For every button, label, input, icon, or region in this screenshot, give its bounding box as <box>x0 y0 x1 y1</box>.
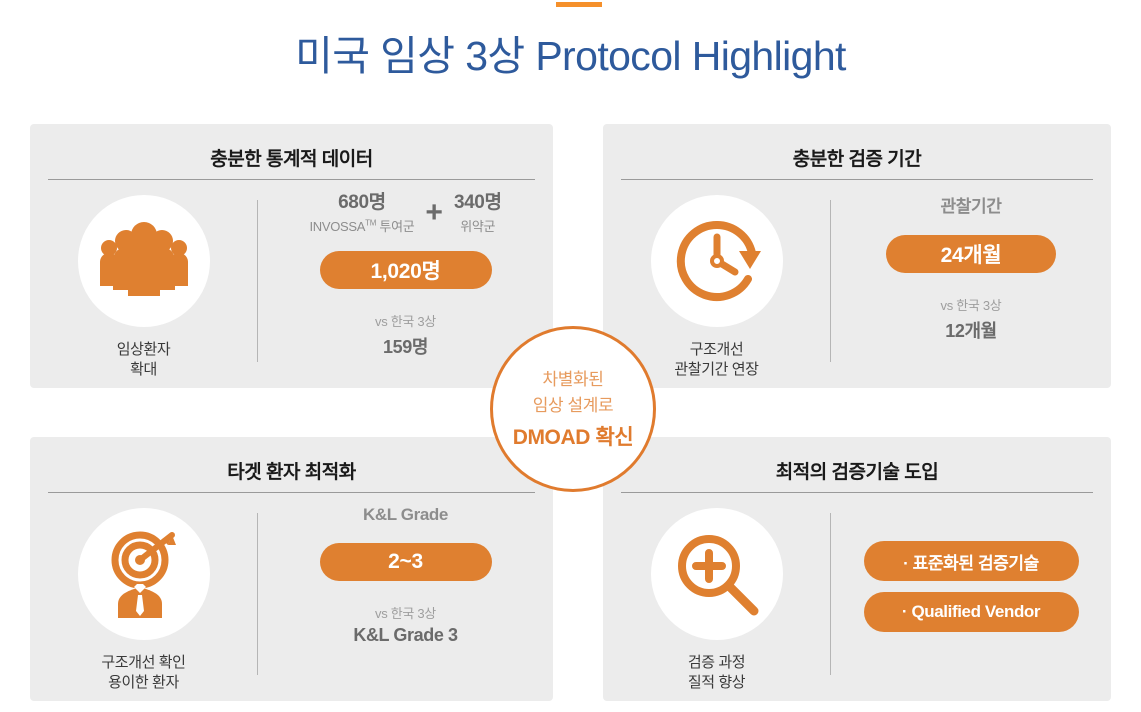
vs-label: vs 한국 3상 <box>353 603 457 622</box>
panel-body: 검증 과정 질적 향상 · 표준화된 검증기술 · Qualified Vend… <box>603 493 1111 701</box>
center-badge-line1: 차별화된 <box>543 367 604 393</box>
protocol-highlight-page: 미국 임상 3상 Protocol Highlight 충분한 통계적 데이터 <box>0 0 1141 712</box>
plus-icon: + <box>425 198 443 228</box>
panel-verification-technology: 최적의 검증기술 도입 검증 과정 질적 향상 <box>603 437 1111 701</box>
panel-body: 구조개선 확인 용이한 환자 K&L Grade 2~3 vs 한국 3상 K&… <box>30 493 553 701</box>
panel-icon-area: 임상환자 확대 <box>30 180 257 388</box>
vs-value: 12개월 <box>941 317 1002 343</box>
people-group-icon <box>78 195 210 327</box>
kl-grade-pill: 2~3 <box>320 543 492 581</box>
stat-label: INVOSSATM 투여군 <box>309 216 414 235</box>
panel-title: 타겟 환자 최적화 <box>30 457 553 484</box>
vs-label: vs 한국 3상 <box>375 311 436 330</box>
icon-caption: 구조개선 확인 용이한 환자 <box>101 653 185 694</box>
stat-label-tail: 투여군 <box>376 219 414 234</box>
vs-value: K&L Grade 3 <box>353 625 457 646</box>
tag-pill-qualified-vendor: · Qualified Vendor <box>864 592 1079 632</box>
icon-caption-line1: 검증 과정 <box>688 654 745 671</box>
panel-title: 충분한 통계적 데이터 <box>30 144 553 171</box>
clock-arrow-icon <box>651 195 783 327</box>
observation-period-label: 관찰기간 <box>941 192 1002 217</box>
page-title: 미국 임상 3상 Protocol Highlight <box>0 22 1141 82</box>
target-businessman-icon <box>78 508 210 640</box>
panel-icon-area: 검증 과정 질적 향상 <box>603 493 830 701</box>
icon-caption-line1: 구조개선 <box>690 341 744 358</box>
panel-icon-area: 구조개선 확인 용이한 환자 <box>30 493 257 701</box>
stat-treatment-group: 680명 INVOSSATM 투여군 <box>309 192 414 235</box>
panel-stats-area: K&L Grade 2~3 vs 한국 3상 K&L Grade 3 <box>258 493 553 701</box>
technology-tag-list: · 표준화된 검증기술 · Qualified Vendor <box>864 541 1079 632</box>
vs-comparison: vs 한국 3상 159명 <box>375 311 436 359</box>
trademark-mark: TM <box>365 219 376 228</box>
icon-caption: 임상환자 확대 <box>117 340 171 381</box>
magnifier-plus-icon <box>651 508 783 640</box>
panel-statistical-data: 충분한 통계적 데이터 <box>30 124 553 388</box>
kl-grade-label: K&L Grade <box>363 505 448 525</box>
icon-caption-line1: 임상환자 <box>117 341 171 358</box>
icon-caption-line2: 질적 향상 <box>688 674 745 691</box>
icon-caption: 구조개선 관찰기간 연장 <box>674 340 758 381</box>
vs-value: 159명 <box>375 333 436 359</box>
stat-split: 680명 INVOSSATM 투여군 + 340명 위약군 <box>309 192 501 235</box>
panel-stats-area: · 표준화된 검증기술 · Qualified Vendor <box>831 493 1111 701</box>
center-badge-line3: DMOAD 확신 <box>513 421 634 451</box>
panel-target-patient-optimization: 타겟 환자 최적화 <box>30 437 553 701</box>
stat-value: 340명 <box>454 192 502 214</box>
vs-label: vs 한국 3상 <box>941 295 1002 314</box>
panel-body: 임상환자 확대 680명 INVOSSATM 투여군 + 340명 위약군 <box>30 180 553 388</box>
icon-caption-line2: 관찰기간 연장 <box>674 361 758 378</box>
icon-caption-line2: 용이한 환자 <box>108 674 179 691</box>
stat-placebo-group: 340명 위약군 <box>454 192 502 235</box>
stat-value: 680명 <box>309 192 414 214</box>
top-accent-bar <box>556 2 602 7</box>
stat-label-brand: INVOSSA <box>309 219 365 234</box>
tag-pill-standardized: · 표준화된 검증기술 <box>864 541 1079 581</box>
icon-caption-line1: 구조개선 확인 <box>101 654 185 671</box>
observation-period-pill: 24개월 <box>886 235 1056 273</box>
icon-caption: 검증 과정 질적 향상 <box>688 653 745 694</box>
vs-comparison: vs 한국 3상 12개월 <box>941 295 1002 343</box>
icon-caption-line2: 확대 <box>130 361 157 378</box>
panel-stats-area: 관찰기간 24개월 vs 한국 3상 12개월 <box>831 180 1111 388</box>
total-patients-pill: 1,020명 <box>320 251 492 289</box>
vs-comparison: vs 한국 3상 K&L Grade 3 <box>353 603 457 646</box>
panel-verification-period: 충분한 검증 기간 구조개선 관찰기간 연장 <box>603 124 1111 388</box>
panel-body: 구조개선 관찰기간 연장 관찰기간 24개월 vs 한국 3상 12개월 <box>603 180 1111 388</box>
stat-label: 위약군 <box>454 216 502 235</box>
panel-title: 충분한 검증 기간 <box>603 144 1111 171</box>
center-badge-dmoad: 차별화된 임상 설계로 DMOAD 확신 <box>490 326 656 492</box>
panel-title: 최적의 검증기술 도입 <box>603 457 1111 484</box>
center-badge-line2: 임상 설계로 <box>533 393 614 419</box>
